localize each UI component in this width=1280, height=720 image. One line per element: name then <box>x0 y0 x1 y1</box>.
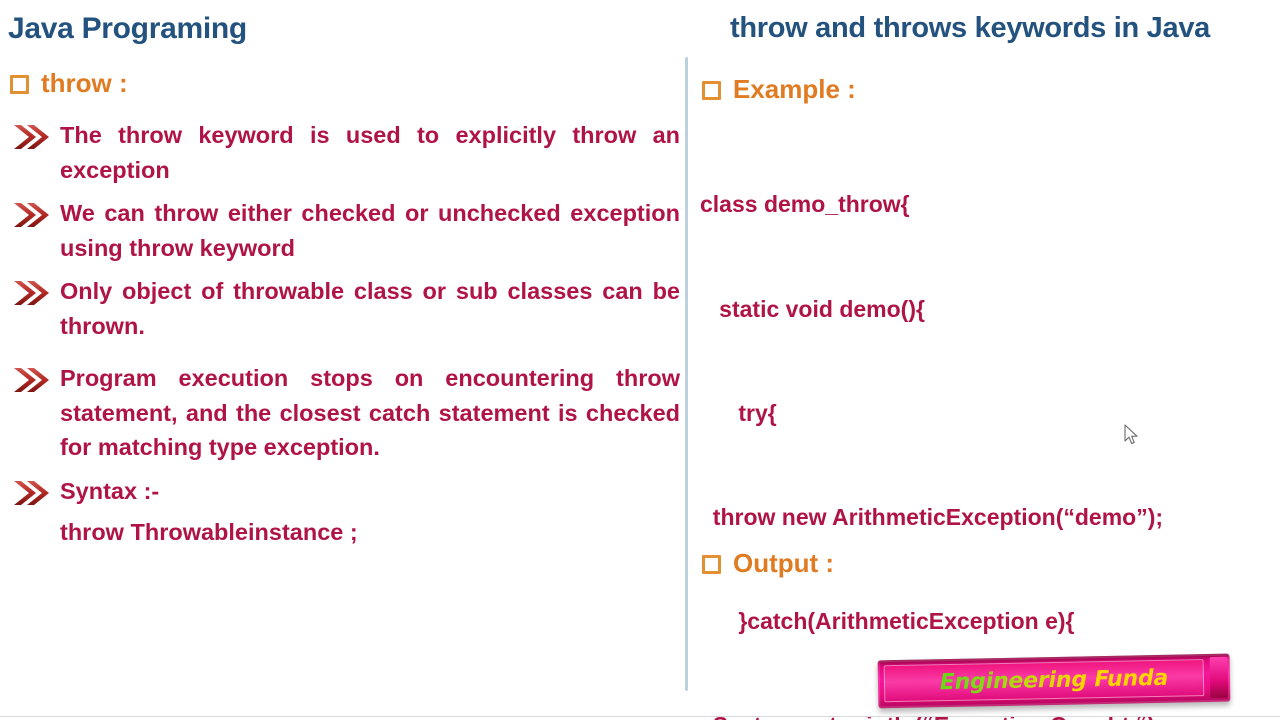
red-chevron-arrow-icon <box>12 365 52 395</box>
square-bullet-icon <box>10 75 29 94</box>
code-line: static void demo(){ <box>700 292 1270 327</box>
section-heading-example-label: Example : <box>733 74 856 105</box>
section-heading-output-label: Output : <box>733 548 834 579</box>
code-line: try{ <box>700 396 1270 431</box>
list-item: The throw keyword is used to explicitly … <box>8 118 680 187</box>
page-title-left: Java Programing <box>8 12 247 46</box>
list-item-text: We can throw either checked or unchecked… <box>60 196 680 265</box>
code-line: System.out.println(“Exception Caught “); <box>700 708 1270 720</box>
list-item: Syntax :- <box>8 474 680 509</box>
section-heading-throw: throw : <box>10 68 128 99</box>
code-block: class demo_throw{ static void demo(){ tr… <box>700 118 1270 720</box>
code-line: throw new ArithmeticException(“demo”); <box>700 500 1270 535</box>
syntax-code-line: throw Throwableinstance ; <box>8 515 680 550</box>
red-chevron-arrow-icon <box>12 122 52 152</box>
page-title-right: throw and throws keywords in Java <box>730 12 1210 45</box>
list-item-text: Program execution stops on encountering … <box>60 361 680 465</box>
list-item-text: Syntax :- <box>60 474 680 509</box>
list-item: Program execution stops on encountering … <box>8 361 680 465</box>
slide-canvas: Java Programing throw and throws keyword… <box>0 0 1280 720</box>
bottom-divider <box>0 716 1280 717</box>
red-chevron-arrow-icon <box>12 200 52 230</box>
section-heading-throw-label: throw : <box>41 68 128 99</box>
code-line: class demo_throw{ <box>700 187 1270 222</box>
list-item-text: Only object of throwable class or sub cl… <box>60 274 680 343</box>
list-item: Only object of throwable class or sub cl… <box>8 274 680 343</box>
section-heading-example: Example : <box>702 74 856 105</box>
list-item: We can throw either checked or unchecked… <box>8 196 680 265</box>
column-divider <box>685 57 688 691</box>
bullet-list: The throw keyword is used to explicitly … <box>8 118 680 550</box>
red-chevron-arrow-icon <box>12 478 52 508</box>
square-bullet-icon <box>702 81 721 100</box>
square-bullet-icon <box>702 555 721 574</box>
list-item-text: The throw keyword is used to explicitly … <box>60 118 680 187</box>
engineering-funda-logo: Engineering Funda <box>878 654 1231 709</box>
code-line: }catch(ArithmeticException e){ <box>700 604 1270 639</box>
section-heading-output: Output : <box>702 548 834 579</box>
red-chevron-arrow-icon <box>12 278 52 308</box>
